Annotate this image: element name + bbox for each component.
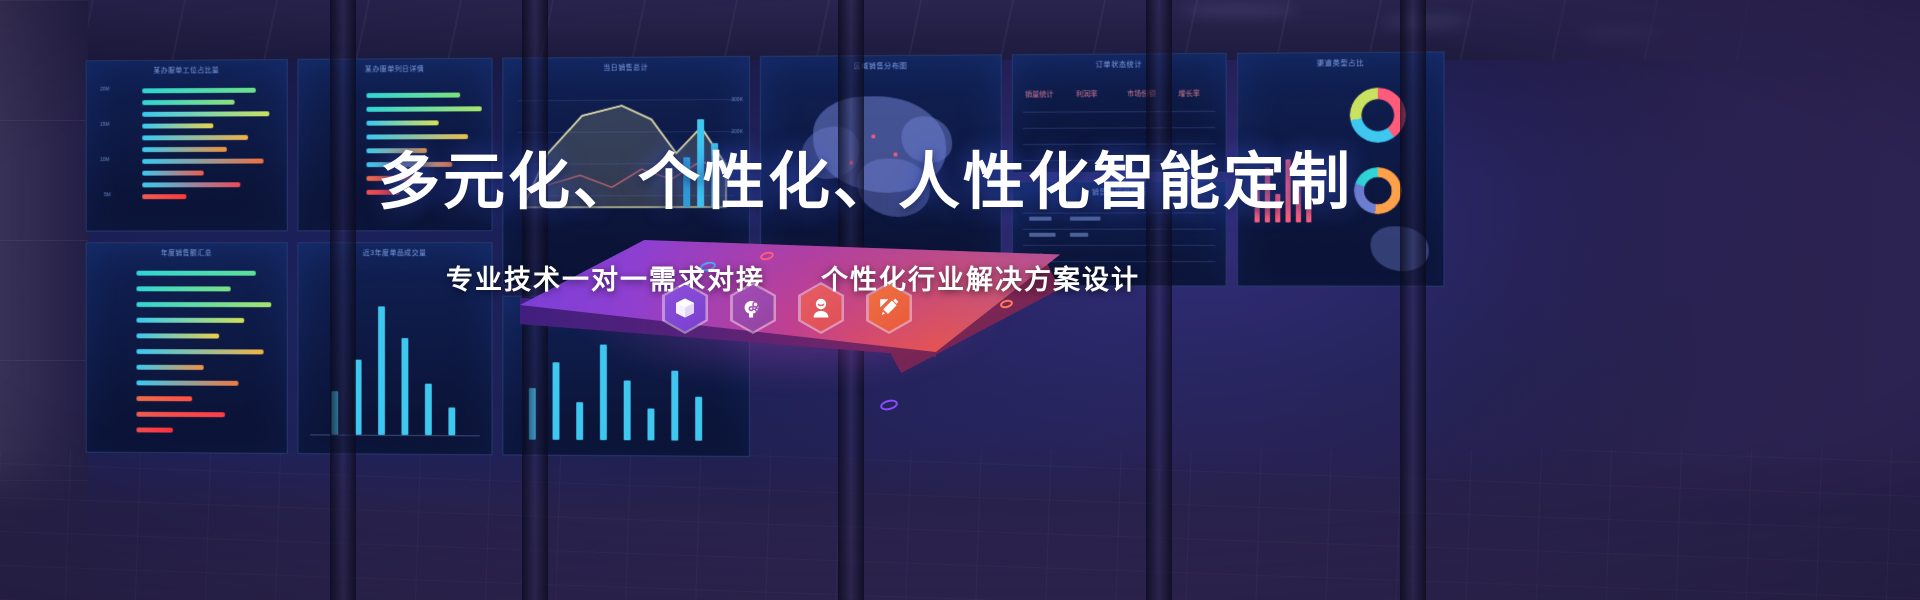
wall-pillar (330, 0, 356, 600)
subtitle-row: 专业技术一对一需求对接 个性化行业解决方案设计 (446, 258, 1506, 297)
ceiling-light (1180, 6, 1300, 14)
page-title: 多元化、个性化、人性化智能定制 (378, 152, 1498, 214)
kpi-label: 增长率 (1178, 89, 1200, 99)
panel-title: 区域销售分布图 (761, 60, 1001, 72)
panel-title: 订单状态统计 (1013, 59, 1226, 70)
hero-banner: 某办服单工位占比量 20M 15M 10M 5M 某办服单列日详情 (0, 0, 1920, 600)
dashboard-panel: 某办服单工位占比量 20M 15M 10M 5M (86, 59, 288, 232)
design-pen-icon[interactable] (866, 282, 912, 334)
panel-title: 某办服单列日详情 (298, 64, 491, 75)
kpi-label: 利润率 (1076, 89, 1097, 99)
cube-icon[interactable] (662, 282, 708, 334)
wall-pillar (1146, 0, 1172, 600)
ai-brain-icon[interactable] (730, 282, 776, 334)
floor (0, 450, 1920, 600)
panel-title: 某办服单工位占比量 (87, 65, 287, 76)
dashboard-panel: 年度销售额汇总 (86, 242, 288, 454)
wall-pillar (1400, 0, 1426, 600)
feature-icon-row (662, 282, 912, 334)
panel-title: 年度销售额汇总 (87, 248, 287, 258)
user-icon[interactable] (798, 282, 844, 334)
kpi-label: 销量统计 (1025, 89, 1053, 99)
panel-title: 近3年度单品成交量 (298, 248, 491, 258)
